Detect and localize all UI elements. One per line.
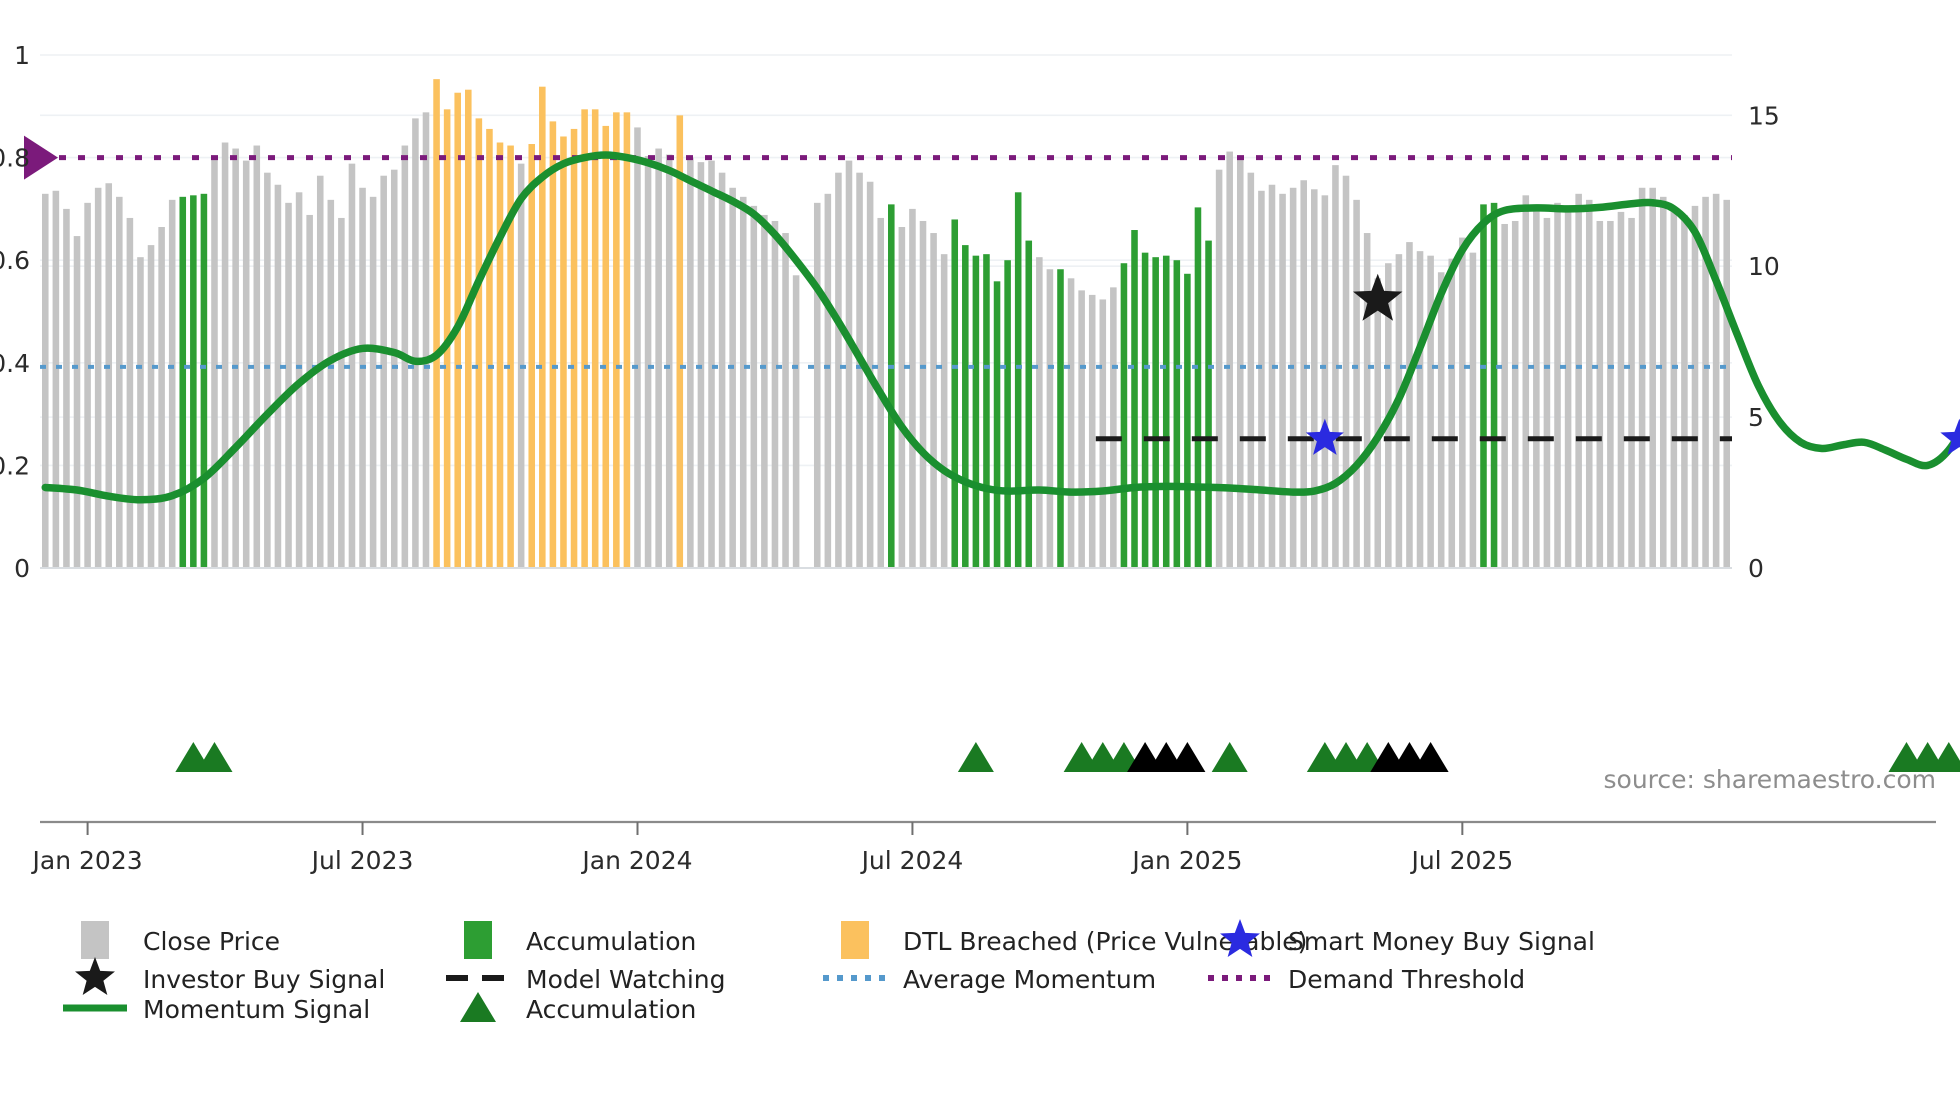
price-bar xyxy=(1110,287,1117,568)
price-bar xyxy=(899,227,906,568)
price-bar xyxy=(1121,263,1128,568)
legend-label: Close Price xyxy=(143,927,280,956)
price-bar xyxy=(1692,206,1699,568)
price-bar xyxy=(1523,195,1530,568)
price-bar xyxy=(1237,159,1244,568)
chart-page: 00.20.40.60.81051015Jan 2023Jul 2023Jan … xyxy=(0,0,1960,1102)
price-bar xyxy=(1597,221,1604,568)
price-bar xyxy=(951,219,958,568)
price-bar xyxy=(581,109,588,568)
y2-axis-tick-label: 15 xyxy=(1748,101,1780,130)
price-bar xyxy=(825,194,832,568)
price-bar xyxy=(1565,212,1572,568)
price-bar xyxy=(1322,195,1329,568)
price-bar xyxy=(814,203,821,568)
price-bar xyxy=(190,195,197,568)
price-bar xyxy=(962,245,969,568)
price-bar xyxy=(1533,209,1540,568)
price-bar xyxy=(1586,200,1593,568)
price-bar xyxy=(1459,238,1466,568)
y-axis-tick-label: 0.4 xyxy=(0,349,30,378)
y-axis-tick-label: 0.6 xyxy=(0,246,30,275)
price-bar xyxy=(497,143,504,568)
price-bar xyxy=(613,112,620,568)
legend-item-close-price[interactable]: Close Price xyxy=(81,921,280,959)
price-bar xyxy=(772,221,779,568)
x-axis-tick-label: Jul 2024 xyxy=(860,846,964,875)
price-bar xyxy=(751,206,758,568)
price-bar xyxy=(1639,188,1646,568)
price-bar xyxy=(1491,203,1498,568)
price-bar xyxy=(433,79,440,568)
price-bar xyxy=(1004,260,1011,568)
price-bar xyxy=(1554,203,1561,568)
price-bar xyxy=(95,188,102,568)
price-bar xyxy=(486,129,493,568)
price-bars xyxy=(42,79,1730,568)
price-bar xyxy=(1290,188,1297,568)
price-bar xyxy=(1501,224,1508,568)
price-bar xyxy=(1152,257,1159,568)
axes xyxy=(40,568,1936,835)
y-axis-tick-label: 0.8 xyxy=(0,144,30,173)
legend-label: Average Momentum xyxy=(903,965,1156,994)
legend-item-accumulation-triangle[interactable]: Accumulation xyxy=(460,992,696,1024)
price-bar xyxy=(1057,269,1064,568)
y-axis-tick-label: 1 xyxy=(14,41,30,70)
price-bar xyxy=(634,127,641,568)
price-bar xyxy=(412,118,419,568)
price-bar xyxy=(1142,253,1149,568)
price-bar xyxy=(275,185,282,568)
legend-item-average-momentum[interactable]: Average Momentum xyxy=(823,965,1156,994)
price-bar xyxy=(1649,188,1656,568)
x-axis-tick-label: Jan 2023 xyxy=(31,846,143,875)
price-bar xyxy=(1068,278,1075,568)
chart-canvas: 00.20.40.60.81051015Jan 2023Jul 2023Jan … xyxy=(0,0,1960,1102)
price-bar xyxy=(1195,207,1202,568)
price-bar xyxy=(856,173,863,568)
price-bar xyxy=(1660,197,1667,568)
y2-axis-tick-label: 5 xyxy=(1748,403,1764,432)
smart-money-buy-signal-star xyxy=(1940,419,1960,455)
legend-item-demand-threshold[interactable]: Demand Threshold xyxy=(1208,965,1525,994)
price-bar xyxy=(328,200,335,568)
price-bar xyxy=(127,218,134,568)
price-bar xyxy=(550,121,557,568)
price-bar xyxy=(476,118,483,568)
price-bar xyxy=(42,194,49,568)
accumulation-triangle-swatch xyxy=(460,992,496,1022)
dtl-breached-swatch xyxy=(841,921,869,959)
price-bar xyxy=(1671,209,1678,568)
price-bar xyxy=(105,183,112,568)
price-bar xyxy=(1311,189,1318,568)
price-bar xyxy=(1353,200,1360,568)
stock-momentum-chart: 00.20.40.60.81051015Jan 2023Jul 2023Jan … xyxy=(0,0,1960,1102)
price-bar xyxy=(1025,241,1032,568)
price-bar xyxy=(179,197,186,568)
price-bar xyxy=(740,197,747,568)
price-bar xyxy=(528,144,535,568)
price-bar xyxy=(116,197,123,568)
price-bar xyxy=(243,161,250,568)
price-bar xyxy=(359,188,366,568)
price-bar xyxy=(782,233,789,568)
price-bar xyxy=(1681,215,1688,568)
price-bar xyxy=(84,203,91,568)
price-bar xyxy=(1100,299,1107,568)
price-bar xyxy=(1713,194,1720,568)
price-bar xyxy=(1438,272,1445,568)
price-bar xyxy=(1618,212,1625,568)
price-bar xyxy=(1174,260,1181,568)
price-bar xyxy=(624,112,631,568)
x-axis-tick-label: Jan 2025 xyxy=(1130,846,1242,875)
price-bar xyxy=(53,191,60,568)
price-bar xyxy=(888,204,895,568)
close-price-swatch xyxy=(81,921,109,959)
price-bar xyxy=(973,256,980,568)
price-bar xyxy=(1343,176,1350,568)
price-bar xyxy=(306,215,313,568)
price-bar xyxy=(74,236,81,568)
legend-label: Demand Threshold xyxy=(1288,965,1525,994)
price-bar xyxy=(708,161,715,568)
price-bar xyxy=(560,136,567,568)
price-bar xyxy=(1628,218,1635,568)
price-bar xyxy=(592,109,599,568)
price-bar xyxy=(1300,180,1307,568)
price-bar xyxy=(465,90,472,568)
accumulation-bar-swatch xyxy=(464,921,492,959)
price-bar xyxy=(846,161,853,568)
legend-item-accumulation-bar[interactable]: Accumulation xyxy=(464,921,696,959)
legend-label: Accumulation xyxy=(526,995,696,1024)
price-bar xyxy=(285,203,292,568)
price-bar xyxy=(677,115,684,568)
price-bar xyxy=(1015,192,1022,568)
legend-item-investor-buy-signal[interactable]: Investor Buy Signal xyxy=(75,957,385,995)
price-bar xyxy=(211,158,218,568)
price-bar xyxy=(158,227,165,568)
price-bar xyxy=(1205,241,1212,568)
price-bar xyxy=(370,197,377,568)
investor-buy-signal-swatch xyxy=(75,957,115,995)
price-bar xyxy=(602,126,609,568)
price-bar xyxy=(941,254,948,568)
price-bar xyxy=(1216,170,1223,568)
price-bar xyxy=(137,257,144,568)
price-bar xyxy=(380,176,387,568)
price-bar xyxy=(571,129,578,568)
price-bar xyxy=(687,158,694,568)
legend-label: Momentum Signal xyxy=(143,995,370,1024)
price-bar xyxy=(423,112,430,568)
price-bar xyxy=(338,218,345,568)
price-bar xyxy=(666,155,673,568)
chart-legend: Close PriceAccumulationDTL Breached (Pri… xyxy=(63,919,1595,1024)
price-bar xyxy=(201,194,208,568)
price-bar xyxy=(1226,152,1233,568)
legend-item-model-watching[interactable]: Model Watching xyxy=(446,965,726,994)
y2-axis-tick-label: 10 xyxy=(1748,252,1780,281)
source-attribution: source: sharemaestro.com xyxy=(1604,765,1937,794)
price-bar xyxy=(169,200,176,568)
accumulation-triangle-marker xyxy=(958,742,994,772)
price-bar xyxy=(1279,194,1286,568)
price-bar xyxy=(920,221,927,568)
price-bar xyxy=(835,173,842,568)
price-bar xyxy=(1047,269,1054,568)
price-bar xyxy=(1258,191,1265,568)
price-bar xyxy=(1163,256,1170,568)
price-bar xyxy=(1248,173,1255,568)
price-bar xyxy=(1575,194,1582,568)
price-bar xyxy=(1406,242,1413,568)
price-bar xyxy=(1723,200,1730,568)
price-bar xyxy=(1512,221,1519,568)
price-bar xyxy=(63,209,70,568)
legend-label: Smart Money Buy Signal xyxy=(1288,927,1595,956)
price-bar xyxy=(1607,221,1614,568)
price-bar xyxy=(761,215,768,568)
y-axis-tick-label: 0.2 xyxy=(0,451,30,480)
price-bar xyxy=(909,209,916,568)
y2-axis-tick-label: 0 xyxy=(1748,554,1764,583)
price-bar xyxy=(1184,274,1191,568)
price-bar xyxy=(232,149,239,568)
legend-item-momentum-signal[interactable]: Momentum Signal xyxy=(63,995,370,1024)
price-bar xyxy=(1470,253,1477,568)
price-bar xyxy=(1089,295,1096,568)
price-bar xyxy=(254,146,261,568)
price-bar xyxy=(1374,278,1381,568)
price-bar xyxy=(1036,257,1043,568)
price-bar xyxy=(994,281,1001,568)
x-axis-tick-label: Jul 2023 xyxy=(310,846,414,875)
accumulation-triangle-marker xyxy=(1212,742,1248,772)
price-bar xyxy=(1544,218,1551,568)
x-axis-tick-label: Jul 2025 xyxy=(1409,846,1513,875)
price-bar xyxy=(655,149,662,568)
legend-label: Model Watching xyxy=(526,965,726,994)
price-bar xyxy=(793,275,800,568)
legend-label: Investor Buy Signal xyxy=(143,965,385,994)
price-bar xyxy=(1448,259,1455,568)
price-bar xyxy=(1364,233,1371,568)
price-bar xyxy=(645,156,652,568)
price-bar xyxy=(1078,290,1085,568)
price-bar xyxy=(729,188,736,568)
y-axis-tick-label: 0 xyxy=(14,554,30,583)
price-bar xyxy=(930,233,937,568)
price-bar xyxy=(222,143,229,568)
x-axis-tick-label: Jan 2024 xyxy=(580,846,692,875)
price-bar xyxy=(719,173,726,568)
price-bar xyxy=(1417,251,1424,568)
price-bar xyxy=(1131,230,1138,568)
price-bar xyxy=(1269,185,1276,568)
price-bar xyxy=(1480,204,1487,568)
price-bar xyxy=(1427,256,1434,568)
price-bar xyxy=(983,254,990,568)
price-bar xyxy=(148,245,155,568)
price-bar xyxy=(264,173,271,568)
legend-label: Accumulation xyxy=(526,927,696,956)
